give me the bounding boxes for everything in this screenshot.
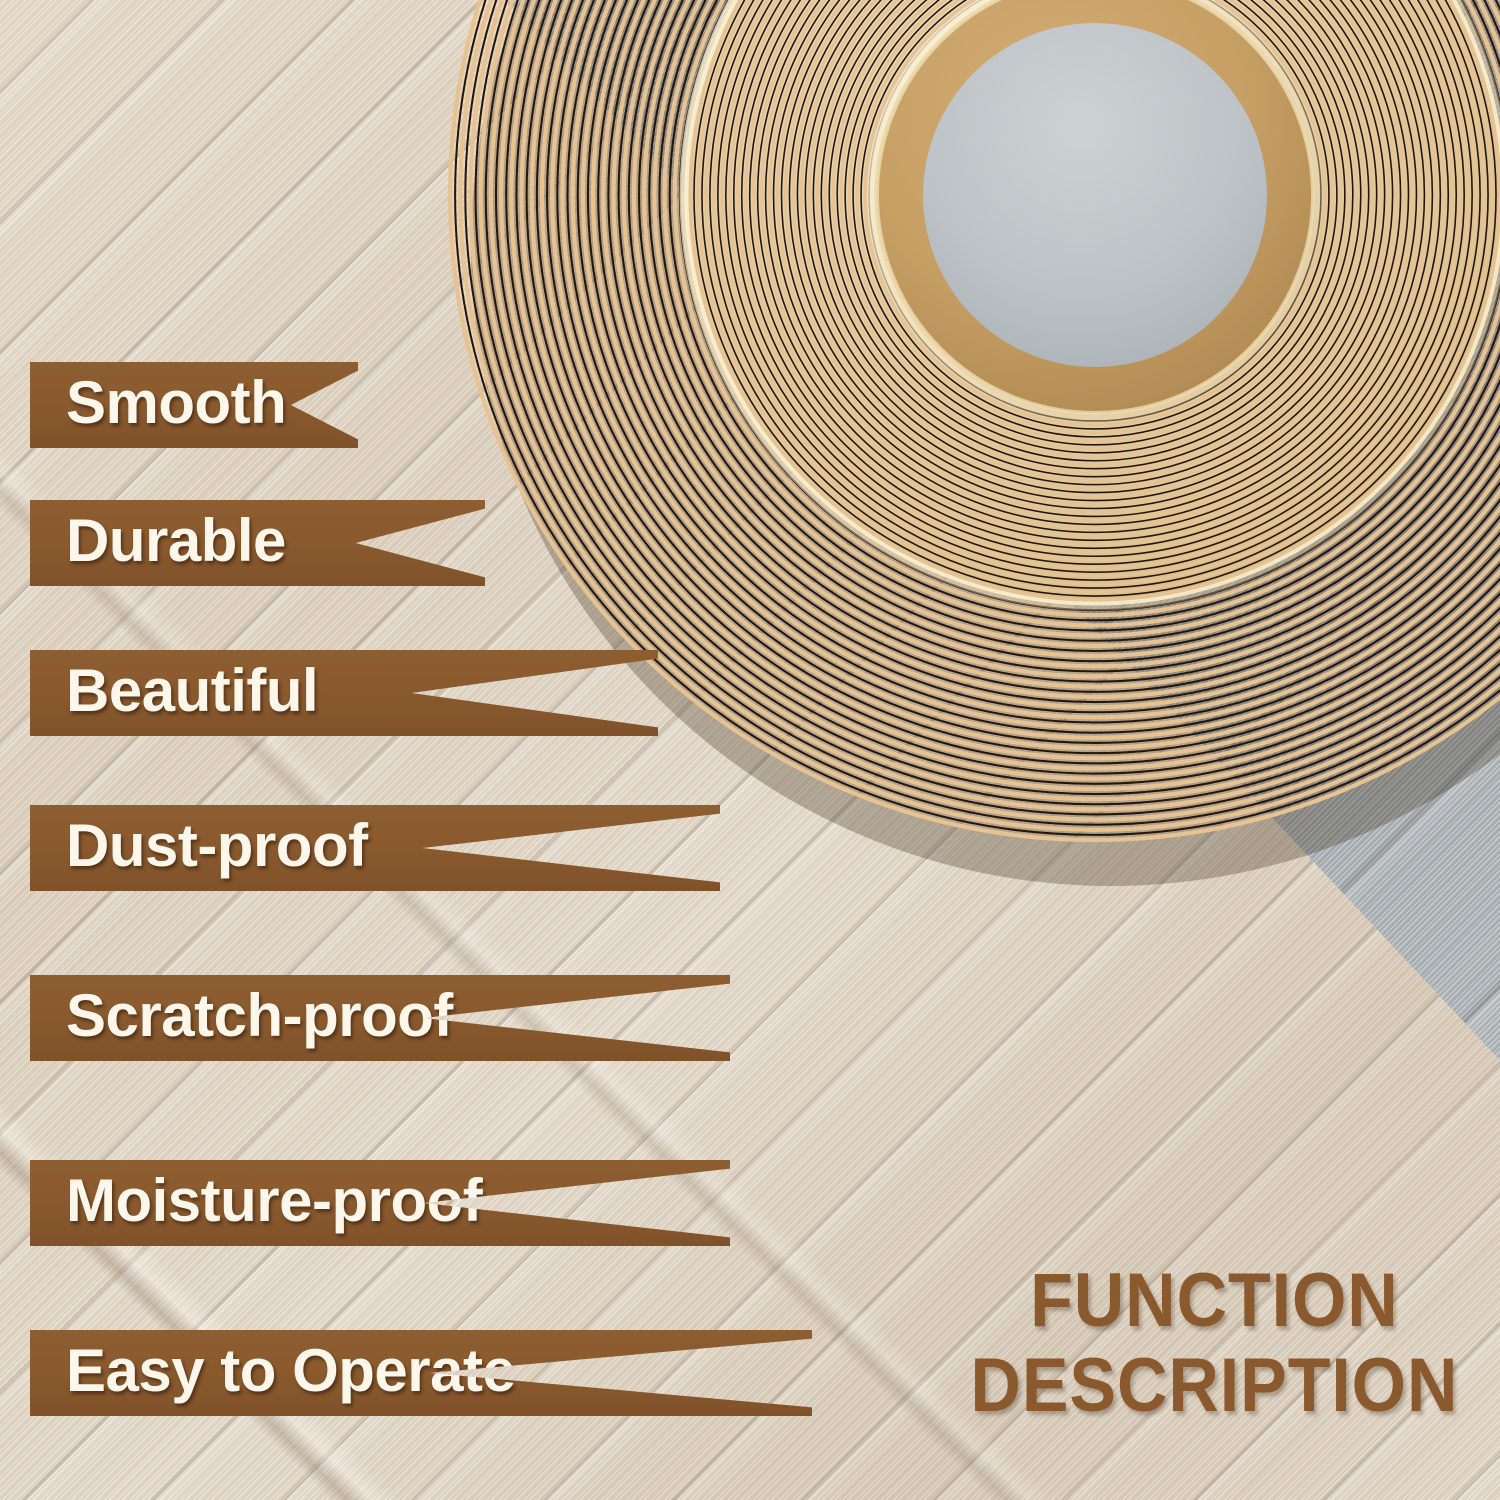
feature-banner: Scratch-proof xyxy=(30,975,730,1061)
product-infographic: SmoothDurableBeautifulDust-proofScratch-… xyxy=(0,0,1500,1500)
function-description-heading: FUNCTION DESCRIPTION xyxy=(970,1258,1458,1428)
feature-banner-label: Scratch-proof xyxy=(66,986,453,1050)
feature-banner-label: Beautiful xyxy=(66,661,318,725)
heading-line-1: FUNCTION xyxy=(970,1258,1458,1343)
feature-banner-label: Durable xyxy=(66,511,286,575)
feature-banner: Smooth xyxy=(30,362,358,448)
feature-banner-label: Easy to Operate xyxy=(66,1341,515,1405)
feature-banner-label: Moisture-proof xyxy=(66,1171,482,1235)
feature-banner: Moisture-proof xyxy=(30,1160,730,1246)
feature-banner: Dust-proof xyxy=(30,805,720,891)
feature-banner: Beautiful xyxy=(30,650,658,736)
feature-banner: Durable xyxy=(30,500,485,586)
feature-banner-label: Dust-proof xyxy=(66,816,368,880)
feature-banner-label: Smooth xyxy=(66,373,286,437)
feature-banner: Easy to Operate xyxy=(30,1330,812,1416)
heading-line-2: DESCRIPTION xyxy=(970,1343,1458,1428)
